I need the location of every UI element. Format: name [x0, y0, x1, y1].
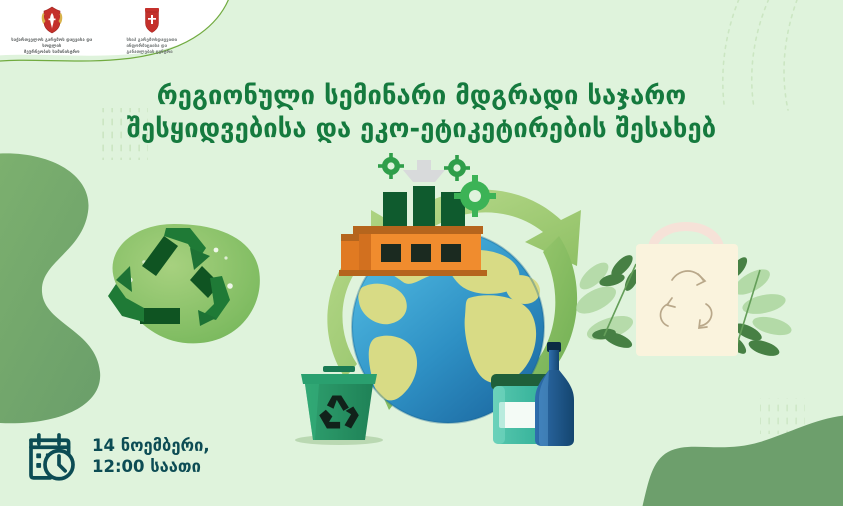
event-datetime: 14 ნოემბერი, 12:00 საათი: [24, 428, 210, 484]
page-title: რეგიონული სემინარი მდგრადი საჯარო შესყიდ…: [0, 80, 843, 145]
calendar-clock-icon: [24, 428, 80, 484]
ministry-logo-text: საქართველოს გარემოს დაცვისა და სოფლის მე…: [6, 37, 98, 55]
header-logos: საქართველოს გარემოს დაცვისა და სოფლის მე…: [0, 0, 200, 52]
title-line-1: რეგიონული სემინარი მდგრადი საჯარო: [90, 80, 753, 113]
center-logo-text: სსიპ გარემოსდაცვითი ინფორმაციისა და განა…: [126, 37, 177, 55]
ministry-logo: საქართველოს გარემოს დაცვისა და სოფლის მე…: [6, 6, 98, 55]
bag-body: [636, 244, 738, 356]
event-date: 14 ნოემბერი,: [92, 435, 210, 456]
georgia-coat-of-arms-icon-small: [141, 6, 163, 34]
georgia-coat-of-arms-icon: [41, 6, 63, 34]
poster-canvas: საქართველოს გარემოს დაცვისა და სოფლის მე…: [0, 0, 843, 506]
event-time: 12:00 საათი: [92, 456, 210, 477]
event-datetime-text: 14 ნოემბერი, 12:00 საათი: [92, 435, 210, 477]
title-line-2: შესყიდვებისა და ეკო-ეტიკეტირების შესახებ: [90, 113, 753, 146]
center-logo: სსიპ გარემოსდაცვითი ინფორმაციისა და განა…: [104, 6, 200, 55]
